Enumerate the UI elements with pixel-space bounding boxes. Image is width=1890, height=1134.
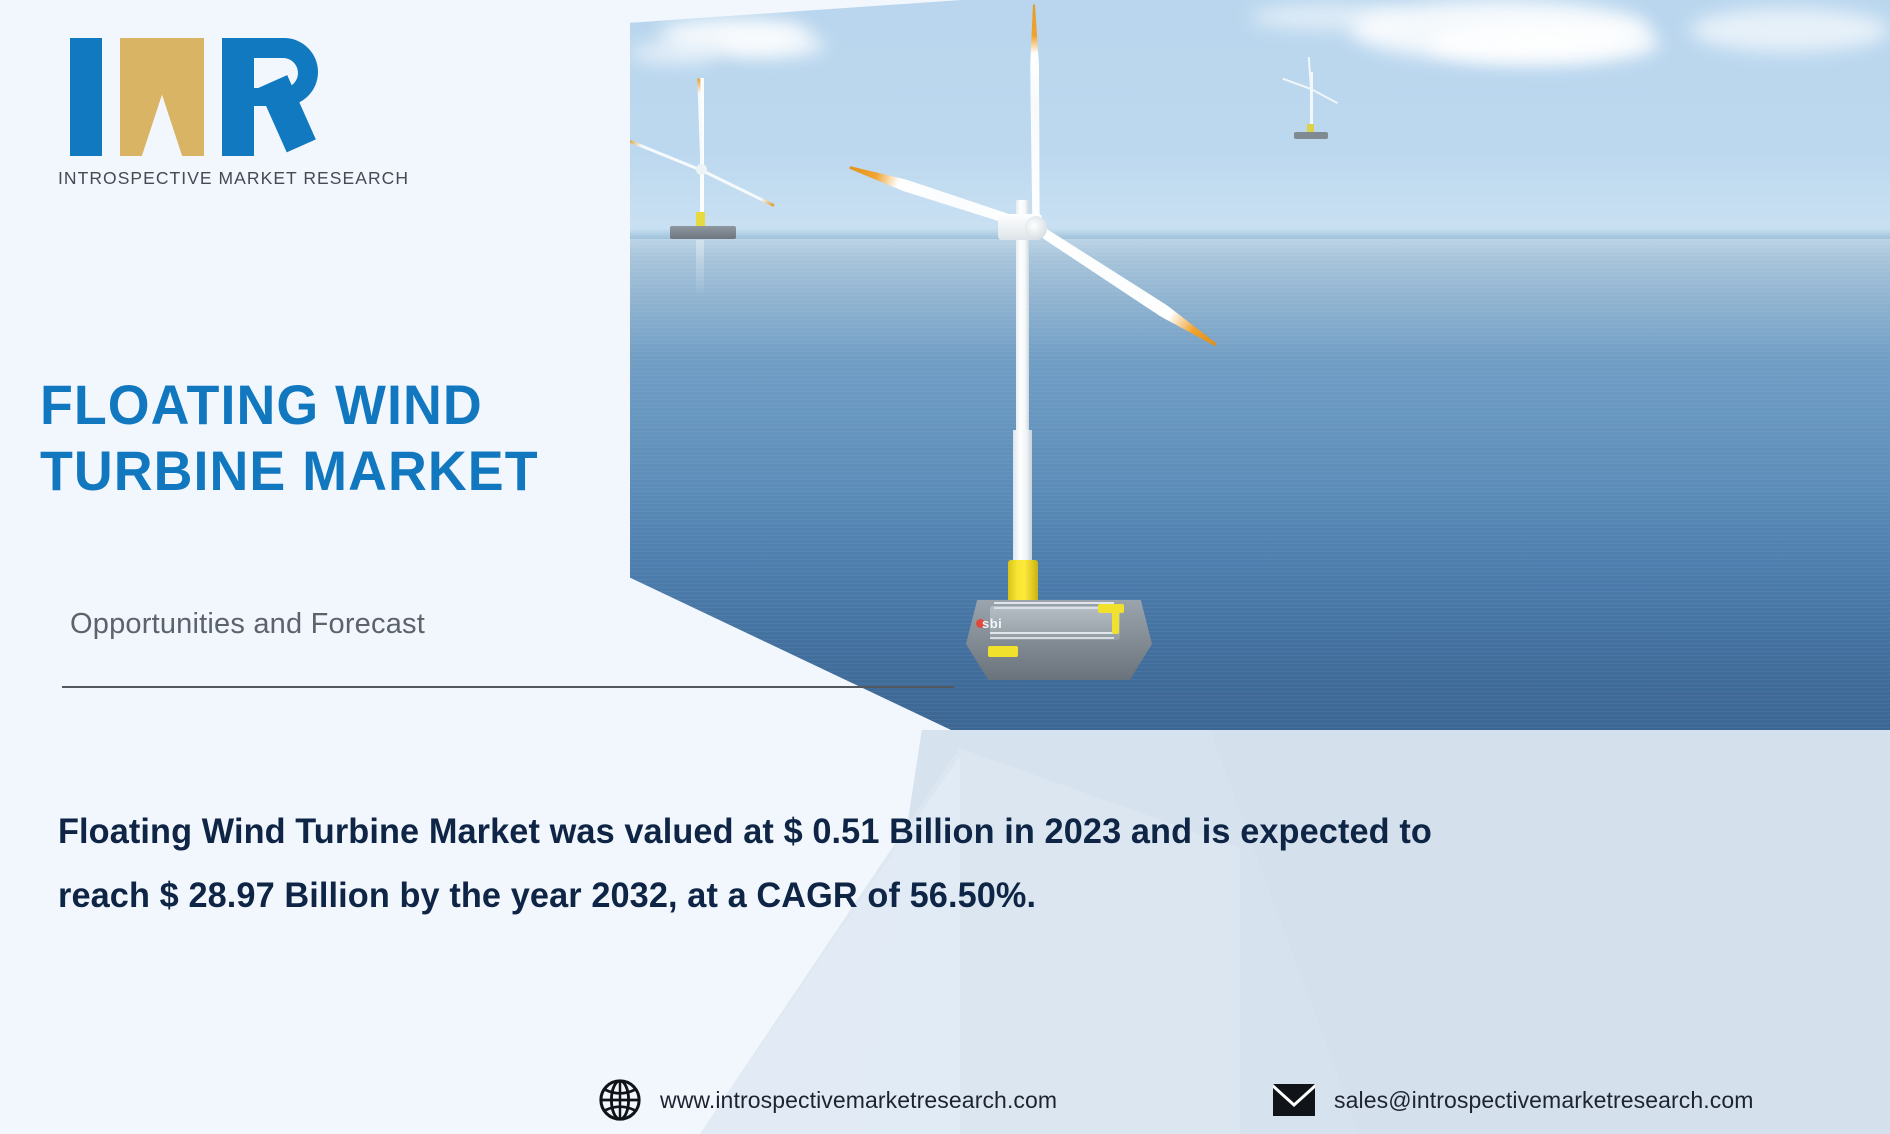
page-title: FLOATING WIND TURBINE MARKET — [40, 372, 712, 504]
turbine-blade — [701, 169, 774, 207]
turbine-blade — [1036, 225, 1219, 350]
footer-website[interactable]: www.introspectivemarketresearch.com — [598, 1078, 1057, 1122]
envelope-icon — [1272, 1078, 1316, 1122]
platform-railing — [994, 602, 1114, 609]
distant-wind-turbine — [630, 60, 826, 260]
logo-letter-m-icon — [120, 38, 204, 156]
title-divider — [62, 686, 954, 688]
hero-photo: sbi — [630, 0, 1890, 760]
company-logo[interactable]: INTROSPECTIVE MARKET RESEARCH — [58, 26, 358, 201]
platform-equipment — [1112, 612, 1119, 634]
platform-equipment — [988, 646, 1018, 657]
report-cover: sbi INTROSPECTIVE MARKET RESEARCH FLOATI… — [0, 0, 1890, 1134]
website-url-text[interactable]: www.introspectivemarketresearch.com — [660, 1087, 1057, 1114]
logo-tagline: INTROSPECTIVE MARKET RESEARCH — [58, 168, 358, 189]
sea-and-sky-backdrop: sbi — [630, 0, 1890, 760]
logo-lettermark — [62, 26, 352, 166]
email-address-text[interactable]: sales@introspectivemarketresearch.com — [1334, 1087, 1753, 1114]
turbine-hub — [696, 164, 707, 175]
water-reflection — [696, 240, 704, 296]
decor-polygon-far-right — [1210, 730, 1890, 1134]
platform-railing — [990, 632, 1114, 639]
footer-email[interactable]: sales@introspectivemarketresearch.com — [1272, 1078, 1753, 1122]
cloud-icon — [716, 32, 826, 58]
cloud-icon — [1430, 22, 1660, 64]
turbine-hub — [1025, 216, 1047, 240]
globe-icon — [598, 1078, 642, 1122]
turbine-blade — [630, 139, 703, 172]
market-summary-headline: Floating Wind Turbine Market was valued … — [58, 800, 1450, 927]
platform-equipment — [1098, 604, 1124, 613]
logo-letter-r-stem-icon — [222, 38, 254, 156]
page-subtitle: Opportunities and Forecast — [70, 608, 425, 641]
floating-platform — [670, 226, 736, 239]
logo-letter-i-icon — [70, 38, 102, 156]
platform-logo-text: sbi — [982, 616, 1002, 631]
main-wind-turbine: sbi — [870, 0, 1350, 620]
turbine-blade — [1030, 4, 1041, 226]
cloud-icon — [1690, 8, 1890, 52]
decor-polygon-right — [860, 730, 1890, 1134]
